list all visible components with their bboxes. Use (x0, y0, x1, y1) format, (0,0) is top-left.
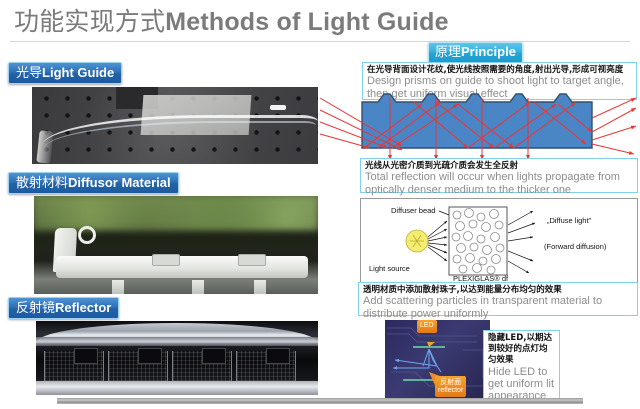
diffusor-part (42, 224, 310, 276)
diffuser-bead-label: Diffuser bead (391, 206, 435, 215)
rod-specular-highlight (270, 105, 286, 110)
diffusor-horizontal-body (56, 256, 308, 278)
light-source-label: Light source (369, 264, 410, 273)
light-rays-in (428, 221, 447, 261)
callout-reflector-en: reflector (438, 387, 463, 396)
forward-diffusion-label: (Forward diffusion) (544, 242, 607, 251)
textbox-scattering-particles: 透明材质中添加散射珠子,以达到能量分布均匀的效果 Add scattering … (358, 282, 638, 316)
diagram-prism-light-guide (318, 92, 640, 160)
page-title-cn: 功能实现方式 (14, 8, 165, 36)
diffusor-tab (238, 254, 266, 266)
callout-led-label: LED (420, 322, 434, 331)
textbox-hide-led: 隐藏LED,以期达到较好的点灯均匀效果 Hide LED to get unif… (483, 330, 560, 402)
page-title: 功能实现方式Methods of Light Guide (14, 2, 449, 38)
callout-led: LED (417, 320, 437, 333)
bottom-decorative-bar (57, 398, 583, 404)
chrome-bezel-lower (36, 337, 318, 346)
led-module (138, 348, 162, 364)
led-module (202, 348, 226, 364)
prism-principle-cn: 在光导背面设计花纹,使光线按照需要的角度,射出光导,形成可视亮度 (367, 65, 632, 75)
label-principle-cn: 原理 (435, 44, 461, 59)
hide-led-en: Hide LED to get uniform lit appearance (488, 366, 555, 402)
label-diffusor-en: Diffusor Material (68, 175, 171, 190)
diffuse-light-label: „Diffuse light" (547, 216, 592, 225)
page-title-en: Methods of Light Guide (165, 8, 449, 36)
label-reflector-en: Reflector (55, 300, 111, 315)
light-rays-out (508, 211, 535, 273)
total-reflection-cn: 光线从光密介质到光疏介质会发生全反射 (365, 161, 633, 171)
title-divider (10, 41, 630, 42)
diffusor-foot (254, 280, 266, 294)
total-reflection-en: Total reflection will occur when lights … (365, 171, 633, 196)
photo-light-guide (32, 87, 318, 164)
label-light-guide-cn: 光导 (16, 65, 42, 80)
ray-paths (393, 349, 441, 372)
callout-reflector-cn: 反射面 (438, 378, 463, 387)
label-diffusor-material: 散射材料Diffusor Material (8, 172, 179, 194)
label-reflector-cn: 反射镜 (16, 300, 55, 315)
diagram-diffuser-bead: Diffuser bead Light source „Diffuse ligh… (360, 198, 638, 284)
photo-reflector (36, 321, 318, 395)
diffusor-tab (152, 254, 180, 266)
scattering-en: Add scattering particles in transparent … (363, 295, 633, 320)
diagram-led-reflector: LED 反射面 reflector (385, 320, 490, 400)
led-module (74, 348, 98, 364)
led-pointer (427, 342, 435, 347)
scattering-cn: 透明材质中添加散射珠子,以达到能量分布均匀的效果 (363, 285, 633, 295)
chrome-base (36, 381, 318, 395)
label-principle-en: Principle (461, 44, 516, 59)
callout-reflector: 反射面 reflector (435, 376, 466, 397)
diffusor-mount-ring (78, 226, 96, 244)
led-module (266, 348, 290, 364)
diffusor-foot (112, 280, 124, 294)
label-light-guide-en: Light Guide (42, 65, 114, 80)
textbox-total-reflection: 光线从光密介质到光疏介质会发生全反射 Total reflection will… (360, 158, 638, 193)
hide-led-cn: 隐藏LED,以期达到较好的点灯均匀效果 (488, 333, 555, 366)
label-reflector: 反射镜Reflector (8, 297, 119, 319)
label-diffusor-cn: 散射材料 (16, 175, 68, 190)
diffusor-foot (192, 280, 204, 294)
slide-root: 功能实现方式Methods of Light Guide 光导Light Gui… (0, 0, 640, 409)
photo-diffusor-material (34, 196, 318, 294)
label-principle: 原理Principle (428, 42, 523, 63)
label-light-guide: 光导Light Guide (8, 62, 122, 84)
